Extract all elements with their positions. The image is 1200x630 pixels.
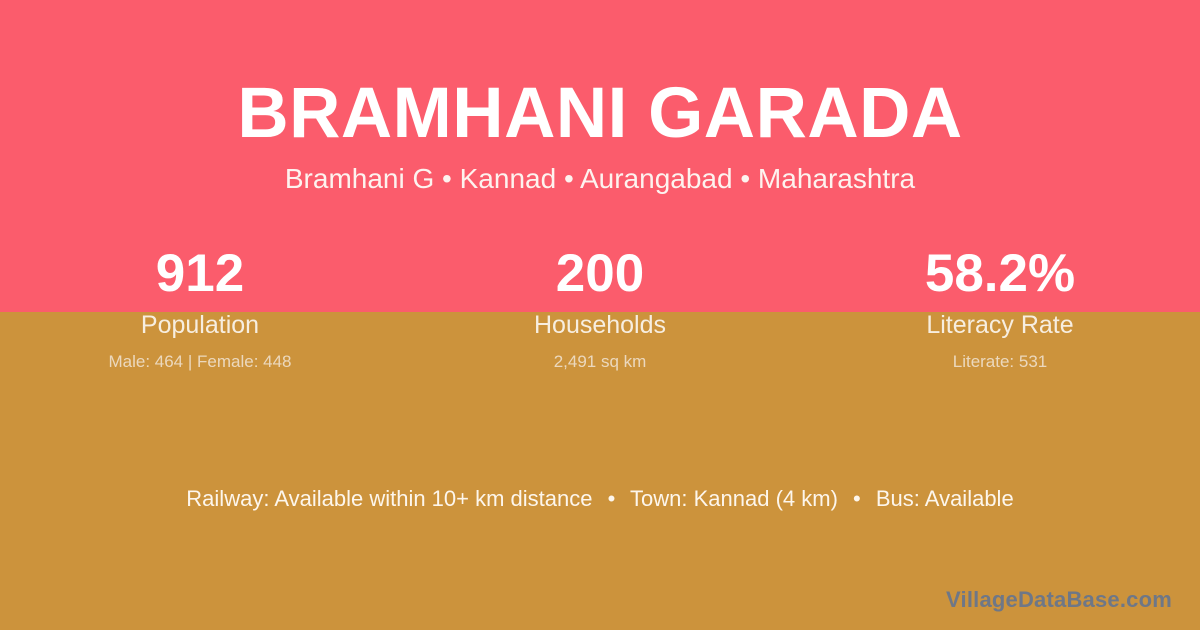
stat-households: 200 Households 2,491 sq km xyxy=(400,246,800,371)
stat-sublabel: Literate: 531 xyxy=(800,353,1200,372)
facility-town: Town: Kannad (4 km) xyxy=(630,486,838,511)
stats-row: 912 Population Male: 464 | Female: 448 2… xyxy=(0,246,1200,371)
stat-sublabel: Male: 464 | Female: 448 xyxy=(0,353,400,372)
facility-bus: Bus: Available xyxy=(876,486,1014,511)
stat-sublabel: 2,491 sq km xyxy=(400,353,800,372)
stat-label: Population xyxy=(0,312,400,340)
stat-population: 912 Population Male: 464 | Female: 448 xyxy=(0,246,400,371)
breadcrumb: Bramhani G • Kannad • Aurangabad • Mahar… xyxy=(0,164,1200,195)
stat-literacy-rate: 58.2% Literacy Rate Literate: 531 xyxy=(800,246,1200,371)
facilities-summary: Railway: Available within 10+ km distanc… xyxy=(0,486,1200,512)
page-title: BRAMHANI GARADA xyxy=(0,78,1200,150)
stat-label: Households xyxy=(400,312,800,340)
stat-value: 58.2% xyxy=(800,246,1200,301)
site-branding: VillageDataBase.com xyxy=(946,588,1172,612)
facility-separator: • xyxy=(599,486,625,512)
facility-separator: • xyxy=(844,486,870,512)
header: BRAMHANI GARADA Bramhani G • Kannad • Au… xyxy=(0,78,1200,195)
stat-value: 200 xyxy=(400,246,800,301)
facility-railway: Railway: Available within 10+ km distanc… xyxy=(186,486,592,511)
stat-label: Literacy Rate xyxy=(800,312,1200,340)
stat-value: 912 xyxy=(0,246,400,301)
village-info-card: BRAMHANI GARADA Bramhani G • Kannad • Au… xyxy=(0,0,1200,630)
